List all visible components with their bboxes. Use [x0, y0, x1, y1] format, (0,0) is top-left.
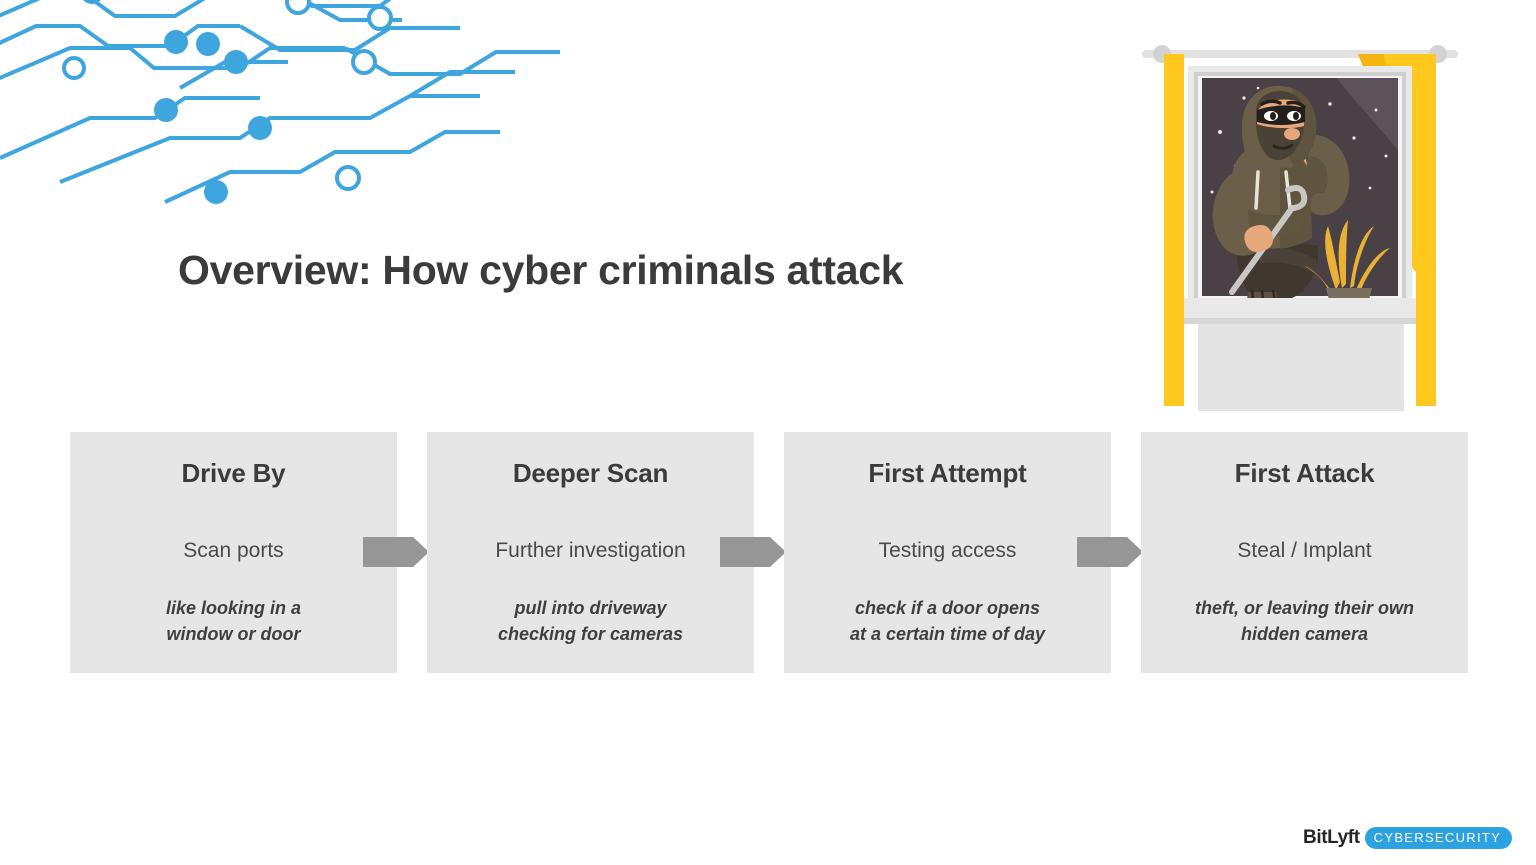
- logo-wordmark: BitLyft: [1303, 827, 1365, 849]
- stage-note-text: check if a door opens at a certain time …: [794, 596, 1101, 647]
- chevron-right-arrow-icon: [363, 537, 429, 567]
- stage-card-first-attempt[interactable]: First Attempt Testing access check if a …: [784, 432, 1111, 673]
- brand-logo[interactable]: BitLyft CYBERSECURITY: [1303, 827, 1512, 849]
- chevron-right-arrow-icon: [1077, 537, 1143, 567]
- chevron-right-arrow-icon: [720, 537, 786, 567]
- stage-title: First Attack: [1151, 458, 1458, 489]
- stage-card-deeper-scan[interactable]: Deeper Scan Further investigation pull i…: [427, 432, 754, 673]
- attack-stages-row: Drive By Scan ports like looking in a wi…: [70, 432, 1465, 673]
- stage-card-first-attack[interactable]: First Attack Steal / Implant theft, or l…: [1141, 432, 1468, 673]
- burglar-in-window-illustration: [1140, 40, 1460, 420]
- stage-gap-2: [754, 432, 784, 673]
- stage-gap-1: [397, 432, 427, 673]
- stage-title: Deeper Scan: [437, 458, 744, 489]
- stage-primary-text: Steal / Implant: [1151, 538, 1458, 563]
- stage-title: Drive By: [80, 458, 387, 489]
- page-title: Overview: How cyber criminals attack: [178, 247, 903, 294]
- stage-gap-3: [1111, 432, 1141, 673]
- stage-primary-text: Further investigation: [437, 538, 744, 563]
- stage-note-text: theft, or leaving their own hidden camer…: [1151, 596, 1458, 647]
- stage-note-text: pull into driveway checking for cameras: [437, 596, 744, 647]
- stage-note-text: like looking in a window or door: [80, 596, 387, 647]
- stage-title: First Attempt: [794, 458, 1101, 489]
- circuit-board-pattern: [0, 0, 560, 220]
- stage-primary-text: Scan ports: [80, 538, 387, 563]
- stage-primary-text: Testing access: [794, 538, 1101, 563]
- stage-card-drive-by[interactable]: Drive By Scan ports like looking in a wi…: [70, 432, 397, 673]
- logo-tagline-pill: CYBERSECURITY: [1365, 827, 1512, 849]
